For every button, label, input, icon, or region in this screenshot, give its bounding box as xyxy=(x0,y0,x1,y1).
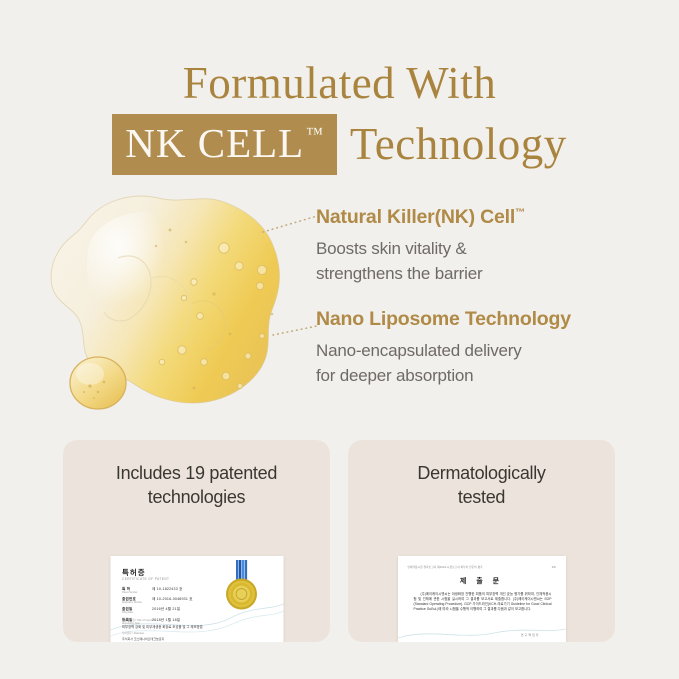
dotted-connector-line-1 xyxy=(262,212,318,222)
certificate-field-value: 제 10-1822433 호 xyxy=(148,587,183,592)
certificate-field-value: 제 10-2016-0048931 호 xyxy=(148,597,193,602)
proof-card-dermatology-title-line-2: tested xyxy=(458,487,505,507)
nk-cell-badge: NK CELL™ xyxy=(112,114,337,175)
feature-desc-nano-liposome: Nano-encapsulated delivery for deeper ab… xyxy=(316,338,646,388)
proof-card-patents-title-line-2: technologies xyxy=(148,487,245,507)
seal-medallion xyxy=(226,579,257,610)
feature-desc-nano-liposome-line-1: Nano-encapsulated delivery xyxy=(316,341,522,360)
report-header-page: 1/8 xyxy=(552,565,556,569)
feature-title-nk-cell-text: Natural Killer(NK) Cell xyxy=(316,206,515,228)
page-title: Formulated With NK CELL™ Technology xyxy=(0,58,679,175)
certificate-patentee-note: 특허권자 / Patentee 주식회사 코스메니비오테크놀로지 xyxy=(122,631,262,641)
report-signature: 연구책임자 xyxy=(521,633,540,637)
feature-desc-nk-cell: Boosts skin vitality & strengthens the b… xyxy=(316,236,646,286)
headline-line-1: Formulated With xyxy=(0,58,679,108)
certificate-patentee-label: 특허권자 / Patentee xyxy=(122,631,262,635)
feature-desc-nk-cell-line-2: strengthens the barrier xyxy=(316,264,482,283)
report-body: (주)에이케이시엔씨는 야생화장 진행한 피품의 피부장벽 개선 효능 평가를 … xyxy=(414,592,552,612)
certificate-invention-label: 발명의 명칭 / Title of Invention xyxy=(122,618,262,622)
feature-title-nk-cell: Natural Killer(NK) Cell™ xyxy=(316,206,646,229)
certificate-field-label-en: Patent Number xyxy=(122,592,148,594)
nk-cell-badge-label: NK CELL xyxy=(125,123,304,164)
gold-award-seal-icon xyxy=(221,560,261,616)
headline-technology-word: Technology xyxy=(350,122,567,167)
feature-desc-nk-cell-line-1: Boosts skin vitality & xyxy=(316,239,467,258)
feature-list: Natural Killer(NK) Cell™ Boosts skin vit… xyxy=(316,206,646,410)
headline-line-2: NK CELL™ Technology xyxy=(0,114,679,175)
certificate-patentee-text: 주식회사 코스메니비오테크놀로지 xyxy=(122,637,262,641)
feature-title-nano-liposome: Nano Liposome Technology xyxy=(316,308,646,331)
report-header: 인체적용시험 결과보고서 제2024-시험보고서 피부과 전문의 평가 1/8 xyxy=(408,565,556,569)
feature-item-nano-liposome: Nano Liposome Technology Nano-encapsulat… xyxy=(316,308,646,388)
report-wave-decoration xyxy=(398,624,566,642)
proof-card-dermatology-title-line-1: Dermatologically xyxy=(417,463,545,483)
proof-card-patents-title-line-1: Includes 19 patented xyxy=(116,463,277,483)
test-report-image: 인체적용시험 결과보고서 제2024-시험보고서 피부과 전문의 평가 1/8 … xyxy=(398,556,566,642)
certificate-field-label-en: Filing Date xyxy=(122,612,148,614)
dotted-connector-line-2 xyxy=(272,322,318,332)
proof-card-list: Includes 19 patented technologies 특허증 CE… xyxy=(63,440,616,642)
certificate-invention-text: 피부장벽 강화 및 피부재생용 화장료 조성물 및 그 제조방법 xyxy=(122,624,262,629)
oil-droplet-icon xyxy=(70,357,126,409)
trademark-icon: ™ xyxy=(306,125,324,142)
infographic-canvas: Formulated With NK CELL™ Technology xyxy=(0,0,679,679)
report-title: 제 출 문 xyxy=(398,576,566,586)
feature-desc-nano-liposome-line-2: for deeper absorption xyxy=(316,366,473,385)
proof-card-patents-title: Includes 19 patented technologies xyxy=(63,440,330,509)
report-header-left: 인체적용시험 결과보고서 제2024-시험보고서 피부과 전문의 평가 xyxy=(408,565,483,569)
certificate-title-en: CERTIFICATE OF PATENT xyxy=(122,577,169,581)
feature-item-nk-cell: Natural Killer(NK) Cell™ Boosts skin vit… xyxy=(316,206,646,286)
proof-card-patents: Includes 19 patented technologies 특허증 CE… xyxy=(63,440,330,642)
patent-certificate-image: 특허증 CERTIFICATE OF PATENT 특 허 Patent Num… xyxy=(110,556,283,642)
trademark-icon: ™ xyxy=(515,208,525,219)
proof-card-dermatology-title: Dermatologically tested xyxy=(348,440,615,509)
certificate-field-value: 2016년 4월 21일 xyxy=(148,607,180,612)
proof-card-dermatology: Dermatologically tested 인체적용시험 결과보고서 제20… xyxy=(348,440,615,642)
certificate-invention-note: 발명의 명칭 / Title of Invention 피부장벽 강화 및 피부… xyxy=(122,618,262,629)
certificate-field-label-en: Application Number xyxy=(122,602,148,604)
